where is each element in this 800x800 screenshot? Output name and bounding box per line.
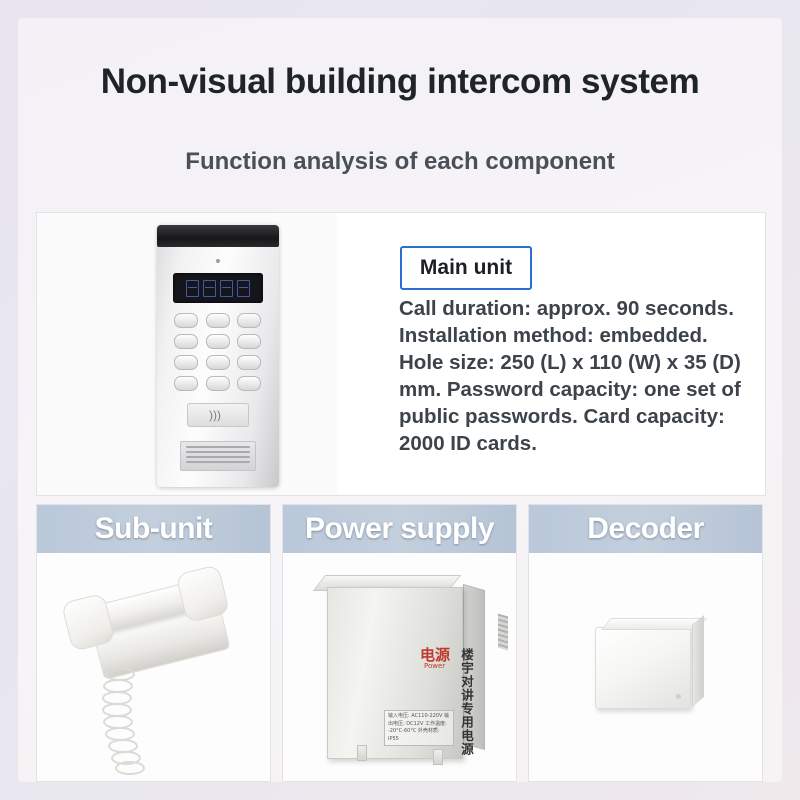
psu-front-face: 楼宇对讲专用电源 电源 Power 输入电压: AC110-220V 输出电压:… xyxy=(327,587,463,759)
decoder-title: Decoder xyxy=(587,512,704,546)
speaker-slit xyxy=(186,451,250,453)
keypad-key xyxy=(237,355,261,370)
speaker-slit xyxy=(186,446,250,448)
decoder-side-face xyxy=(692,615,704,707)
keypad-key xyxy=(206,334,230,349)
microphone-hole-icon xyxy=(216,259,220,263)
keypad-key xyxy=(174,334,198,349)
display-digit xyxy=(237,280,250,297)
sub-unit-card: Sub-unit xyxy=(36,504,271,782)
power-supply-title: Power supply xyxy=(305,512,494,546)
psu-vent-grille xyxy=(498,614,508,651)
rfid-wave-icon: ))) xyxy=(209,408,221,422)
speaker-slit xyxy=(186,456,250,458)
main-unit-photo: ))) xyxy=(37,213,337,495)
keypad-key xyxy=(206,355,230,370)
handset-cord xyxy=(97,649,147,769)
display-digit xyxy=(186,280,199,297)
sub-unit-photo xyxy=(37,553,270,782)
intercom-panel-illustration: ))) xyxy=(157,225,279,487)
main-unit-card: ))) Main unit Call duration: approx. 90 … xyxy=(36,212,766,496)
decoder-screw xyxy=(676,694,681,699)
mounting-tab xyxy=(433,749,443,765)
seven-segment-display xyxy=(173,273,263,303)
keypad-key xyxy=(174,376,198,391)
psu-brand-label-en: Power xyxy=(424,662,445,670)
speaker-grille xyxy=(180,441,256,471)
poster-root: Non-visual building intercom system Func… xyxy=(0,0,800,800)
panel-top-bezel xyxy=(157,225,279,247)
speaker-slit xyxy=(186,461,250,463)
page-title: Non-visual building intercom system xyxy=(0,62,800,102)
keypad-key xyxy=(174,355,198,370)
keypad-key xyxy=(206,313,230,328)
page-subtitle: Function analysis of each component xyxy=(0,148,800,176)
decoder-box-illustration xyxy=(595,627,691,709)
psu-spec-plate: 输入电压: AC110-220V 输出电压: DC12V 工作温度: -20°C… xyxy=(384,710,454,746)
keypad-key xyxy=(174,313,198,328)
power-supply-header: Power supply xyxy=(283,505,516,553)
component-card-row: Sub-unit xyxy=(36,504,764,782)
keypad-key xyxy=(237,313,261,328)
main-unit-badge: Main unit xyxy=(400,246,532,290)
sub-unit-header: Sub-unit xyxy=(37,505,270,553)
keypad-key xyxy=(237,334,261,349)
main-unit-description: Call duration: approx. 90 seconds. Insta… xyxy=(399,295,747,457)
cord-coil xyxy=(115,761,145,775)
decoder-header: Decoder xyxy=(529,505,762,553)
sub-unit-title: Sub-unit xyxy=(95,512,213,546)
decoder-photo xyxy=(529,553,762,782)
handset-mouthpiece xyxy=(175,564,230,623)
power-supply-card: Power supply 楼宇对讲专用电源 电源 Power 输入电压: AC1… xyxy=(282,504,517,782)
keypad-key xyxy=(206,376,230,391)
decoder-card: Decoder xyxy=(528,504,763,782)
display-digit xyxy=(203,280,216,297)
power-supply-photo: 楼宇对讲专用电源 电源 Power 输入电压: AC110-220V 输出电压:… xyxy=(283,553,516,782)
display-digit xyxy=(220,280,233,297)
keypad xyxy=(174,313,262,391)
keypad-key xyxy=(237,376,261,391)
mounting-tab xyxy=(357,745,367,761)
